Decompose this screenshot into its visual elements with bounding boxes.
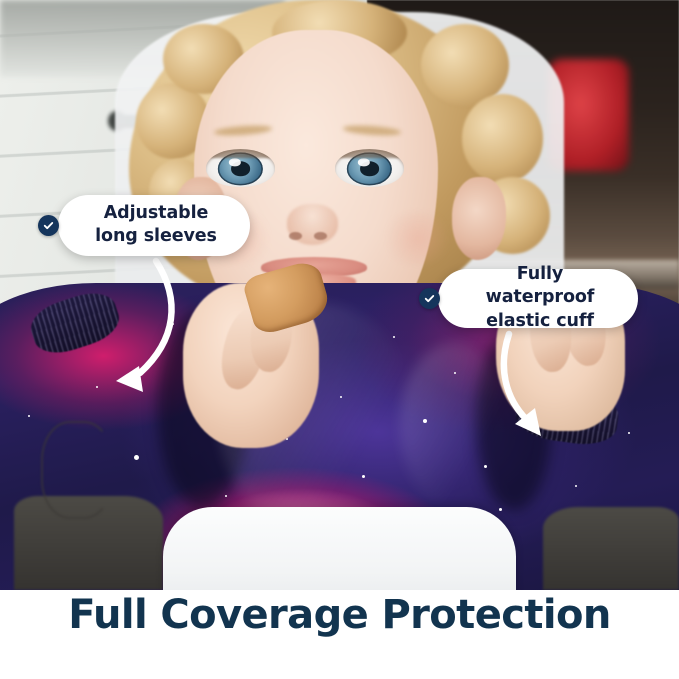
- bib-star: [423, 419, 427, 423]
- bib-star: [499, 508, 502, 511]
- eye-left: [206, 149, 275, 187]
- eye-glint-right: [358, 158, 370, 166]
- bib-star: [225, 495, 227, 497]
- check-circle-icon: [419, 288, 440, 309]
- bib-star: [134, 455, 139, 460]
- bib-star: [628, 432, 630, 434]
- bib-star: [96, 386, 98, 388]
- bib-star: [28, 415, 30, 417]
- bib-star: [393, 336, 395, 338]
- bib-star: [172, 323, 174, 325]
- eyelash-right: [335, 149, 404, 157]
- eye-right: [335, 149, 404, 187]
- callout-adjustable-long-sleeves[interactable]: Adjustable long sleeves: [58, 195, 250, 256]
- eyelash-left: [206, 149, 275, 157]
- bib-star: [340, 396, 342, 398]
- page-title: Full Coverage Protection: [0, 592, 679, 638]
- hair-curl: [462, 94, 543, 183]
- callout-sleeves-label: Adjustable long sleeves: [84, 202, 228, 249]
- bib-star: [575, 485, 577, 487]
- callout-cuff-label: Fully waterproof elastic cuff: [464, 263, 616, 333]
- check-circle-icon: [38, 215, 59, 236]
- product-feature-image: Adjustable long sleeves Fully waterproof…: [0, 0, 679, 679]
- bib-star: [484, 465, 487, 468]
- high-chair-tray: [163, 507, 516, 590]
- callout-fully-waterproof-elastic-cuff[interactable]: Fully waterproof elastic cuff: [438, 269, 638, 328]
- ear-right: [452, 177, 506, 260]
- eye-glint-left: [229, 158, 241, 166]
- bib-fold-highlight: [400, 343, 506, 508]
- high-chair-frame-right: [543, 507, 679, 590]
- high-chair-strap: [41, 421, 113, 519]
